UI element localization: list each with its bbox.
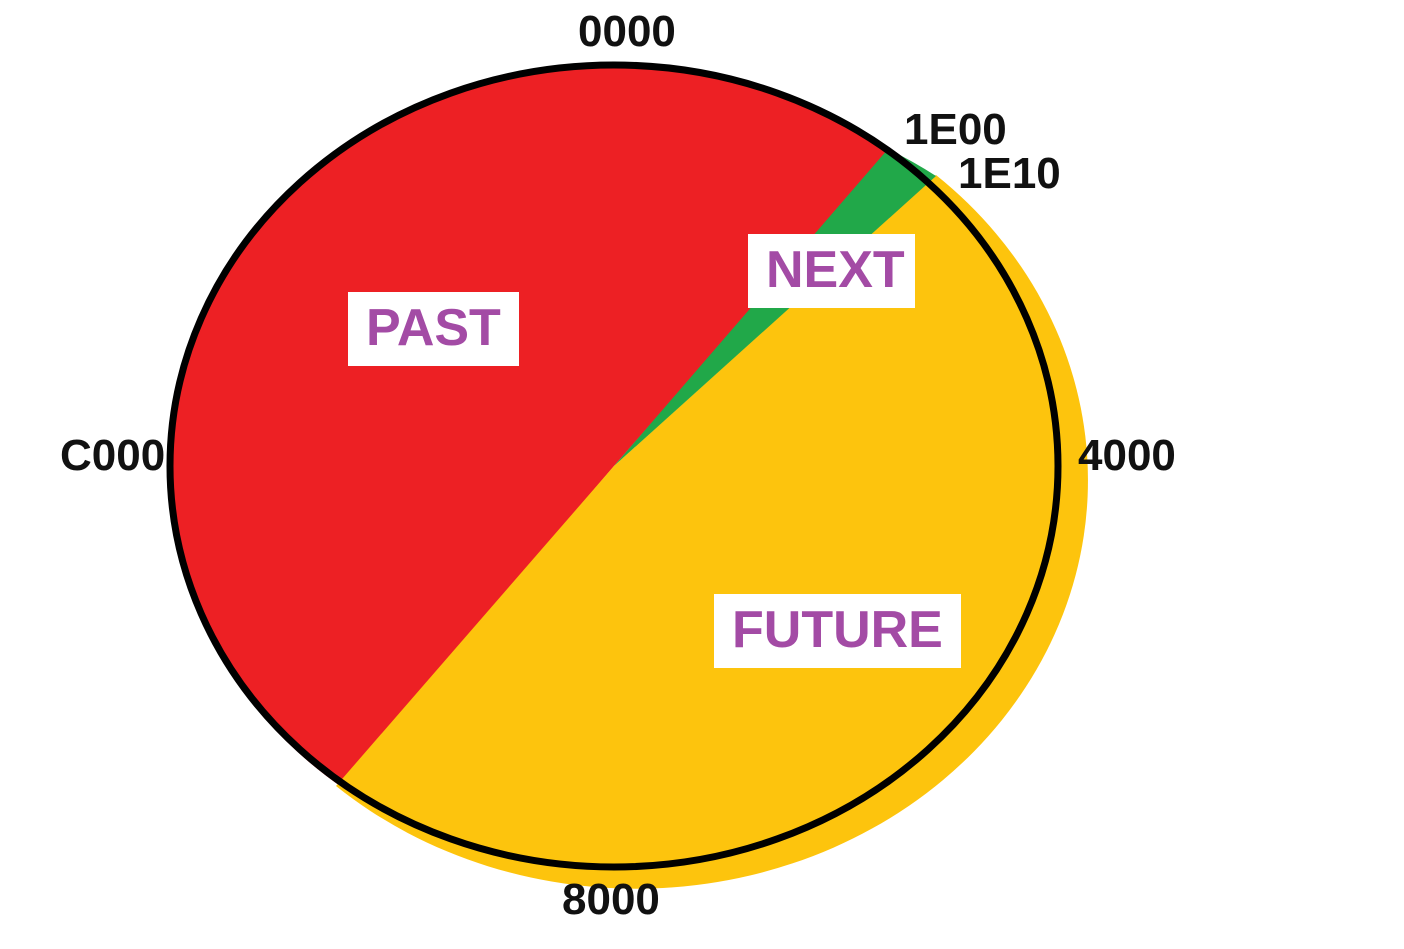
wedge-label-next: NEXT bbox=[748, 234, 915, 308]
tick-label-0000: 0000 bbox=[578, 10, 676, 54]
tick-label-4000: 4000 bbox=[1078, 434, 1176, 478]
tick-label-8000: 8000 bbox=[562, 878, 660, 922]
time-wheel-graphic bbox=[0, 0, 1404, 949]
tick-label-1E00: 1E00 bbox=[904, 108, 1007, 152]
tick-label-1E10: 1E10 bbox=[958, 152, 1061, 196]
wedge-label-past: PAST bbox=[348, 292, 519, 366]
tick-label-C000: C000 bbox=[60, 434, 165, 478]
time-wheel-canvas: 0000 1E00 1E10 4000 8000 C000 PAST NEXT … bbox=[0, 0, 1404, 949]
wedge-label-future: FUTURE bbox=[714, 594, 961, 668]
